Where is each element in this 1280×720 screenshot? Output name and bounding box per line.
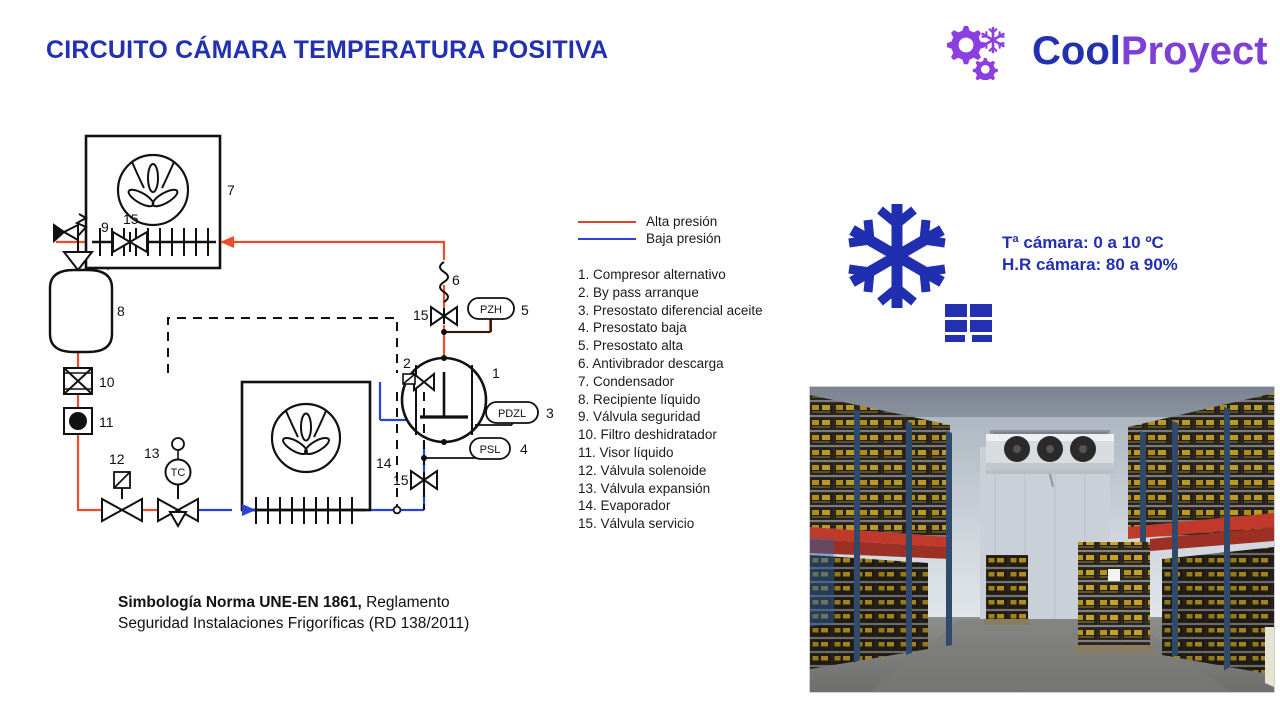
list-item: 8. Recipiente líquido bbox=[578, 391, 813, 409]
list-item: 5. Presostato alta bbox=[578, 337, 813, 355]
note-standard-name: Simbología Norma UNE-EN 1861, bbox=[118, 594, 362, 611]
list-item: 11. Visor líquido bbox=[578, 444, 813, 462]
logo-wordmark: CoolProyect bbox=[1032, 31, 1268, 71]
legend-item-high-pressure: Alta presión bbox=[578, 213, 803, 230]
logo-text-proyect: Proyect bbox=[1121, 29, 1268, 73]
legend-item-low-pressure: Baja presión bbox=[578, 230, 803, 247]
liquid-receiver-symbol bbox=[50, 270, 112, 352]
thermal-bulb-icon bbox=[172, 438, 184, 450]
component-list: 1. Compresor alternativo 2. By pass arra… bbox=[578, 266, 813, 533]
list-item: 15. Válvula servicio bbox=[578, 515, 813, 533]
solenoid-valve-symbol bbox=[102, 472, 142, 521]
callout-service-valve-receiver: 15 bbox=[123, 211, 139, 227]
legend-label-low-pressure: Baja presión bbox=[646, 231, 721, 246]
callout-expansion-valve: 13 bbox=[144, 445, 160, 461]
list-item: 12. Válvula solenoide bbox=[578, 462, 813, 480]
callout-pressure-switch-low: 4 bbox=[520, 441, 528, 457]
center-pallets bbox=[984, 555, 1030, 625]
list-item: 10. Filtro deshidratador bbox=[578, 426, 813, 444]
list-item: 6. Antivibrador descarga bbox=[578, 355, 813, 373]
note-line-1: Simbología Norma UNE-EN 1861, Reglamento bbox=[118, 592, 588, 613]
snowflake-icon bbox=[982, 28, 1003, 52]
callout-antivibrator: 6 bbox=[452, 272, 460, 288]
list-item: 4. Presostato baja bbox=[578, 319, 813, 337]
callout-filter-drier: 10 bbox=[99, 374, 115, 390]
chamber-specs: Tª cámara: 0 a 10 ºC H.R cámara: 80 a 90… bbox=[1002, 232, 1178, 276]
cold-room-photo bbox=[809, 386, 1275, 693]
tag-pdzl: PDZL bbox=[498, 408, 526, 420]
bypass-tap-point bbox=[394, 507, 401, 514]
sight-glass-symbol bbox=[64, 408, 92, 434]
list-item: 3. Presostato diferencial aceite bbox=[578, 302, 813, 320]
callout-safety-valve: 9 bbox=[101, 219, 109, 235]
filter-drier-symbol bbox=[64, 368, 92, 394]
foreground-pallet-stack bbox=[1075, 542, 1153, 653]
callout-compressor: 1 bbox=[492, 365, 500, 381]
list-item: 1. Compresor alternativo bbox=[578, 266, 813, 284]
note-line-2: Seguridad Instalaciones Frigoríficas (RD… bbox=[118, 613, 588, 634]
snowflake-icon bbox=[832, 196, 962, 316]
spec-humidity: H.R cámara: 80 a 90% bbox=[1002, 254, 1178, 276]
pallet-icon bbox=[944, 303, 994, 345]
callout-pressure-switch-high: 5 bbox=[521, 302, 529, 318]
spec-temperature: Tª cámara: 0 a 10 ºC bbox=[1002, 232, 1178, 254]
evaporator-symbol bbox=[242, 382, 370, 524]
coolproyect-logo-mark bbox=[944, 22, 1030, 80]
legend-label-high-pressure: Alta presión bbox=[646, 214, 717, 229]
tag-psl: PSL bbox=[480, 444, 501, 456]
condenser-symbol bbox=[86, 136, 234, 268]
list-item: 13. Válvula expansión bbox=[578, 480, 813, 498]
callout-service-valve-suction: 15 bbox=[393, 472, 409, 488]
callout-receiver: 8 bbox=[117, 303, 125, 319]
standard-note: Simbología Norma UNE-EN 1861, Reglamento… bbox=[118, 592, 588, 634]
tag-tc: TC bbox=[171, 467, 186, 479]
callout-bypass: 2 bbox=[403, 355, 411, 371]
list-item: 2. By pass arranque bbox=[578, 284, 813, 302]
callout-pressure-switch-oil: 3 bbox=[546, 405, 554, 421]
brand-logo: CoolProyect bbox=[944, 20, 1264, 82]
callout-solenoid-valve: 12 bbox=[109, 451, 125, 467]
callout-condenser: 7 bbox=[227, 182, 235, 198]
compressor-symbol bbox=[402, 355, 486, 445]
page-title: CIRCUITO CÁMARA TEMPERATURA POSITIVA bbox=[46, 36, 608, 65]
note-standard-rest: Reglamento bbox=[362, 594, 450, 611]
service-valve-receiver-symbol bbox=[113, 232, 147, 252]
refrigeration-circuit-diagram: 7 6 15 PZH 5 1 PDZL 3 bbox=[20, 120, 580, 550]
logo-text-cool: Cool bbox=[1032, 29, 1121, 73]
cold-room-illustration bbox=[810, 387, 1274, 692]
service-valve-discharge-symbol bbox=[431, 307, 457, 325]
list-item: 7. Condensador bbox=[578, 373, 813, 391]
callout-sight-glass: 11 bbox=[99, 414, 114, 430]
list-item: 14. Evaporador bbox=[578, 497, 813, 515]
pressure-legend: Alta presión Baja presión bbox=[578, 213, 803, 247]
list-item: 9. Válvula seguridad bbox=[578, 408, 813, 426]
legend-swatch-high-pressure-icon bbox=[578, 221, 636, 223]
tag-pzh: PZH bbox=[480, 304, 502, 316]
callout-service-valve-discharge: 15 bbox=[413, 307, 429, 323]
legend-swatch-low-pressure-icon bbox=[578, 238, 636, 240]
callout-evaporator: 14 bbox=[376, 455, 392, 471]
expansion-valve-symbol: TC bbox=[158, 438, 198, 526]
